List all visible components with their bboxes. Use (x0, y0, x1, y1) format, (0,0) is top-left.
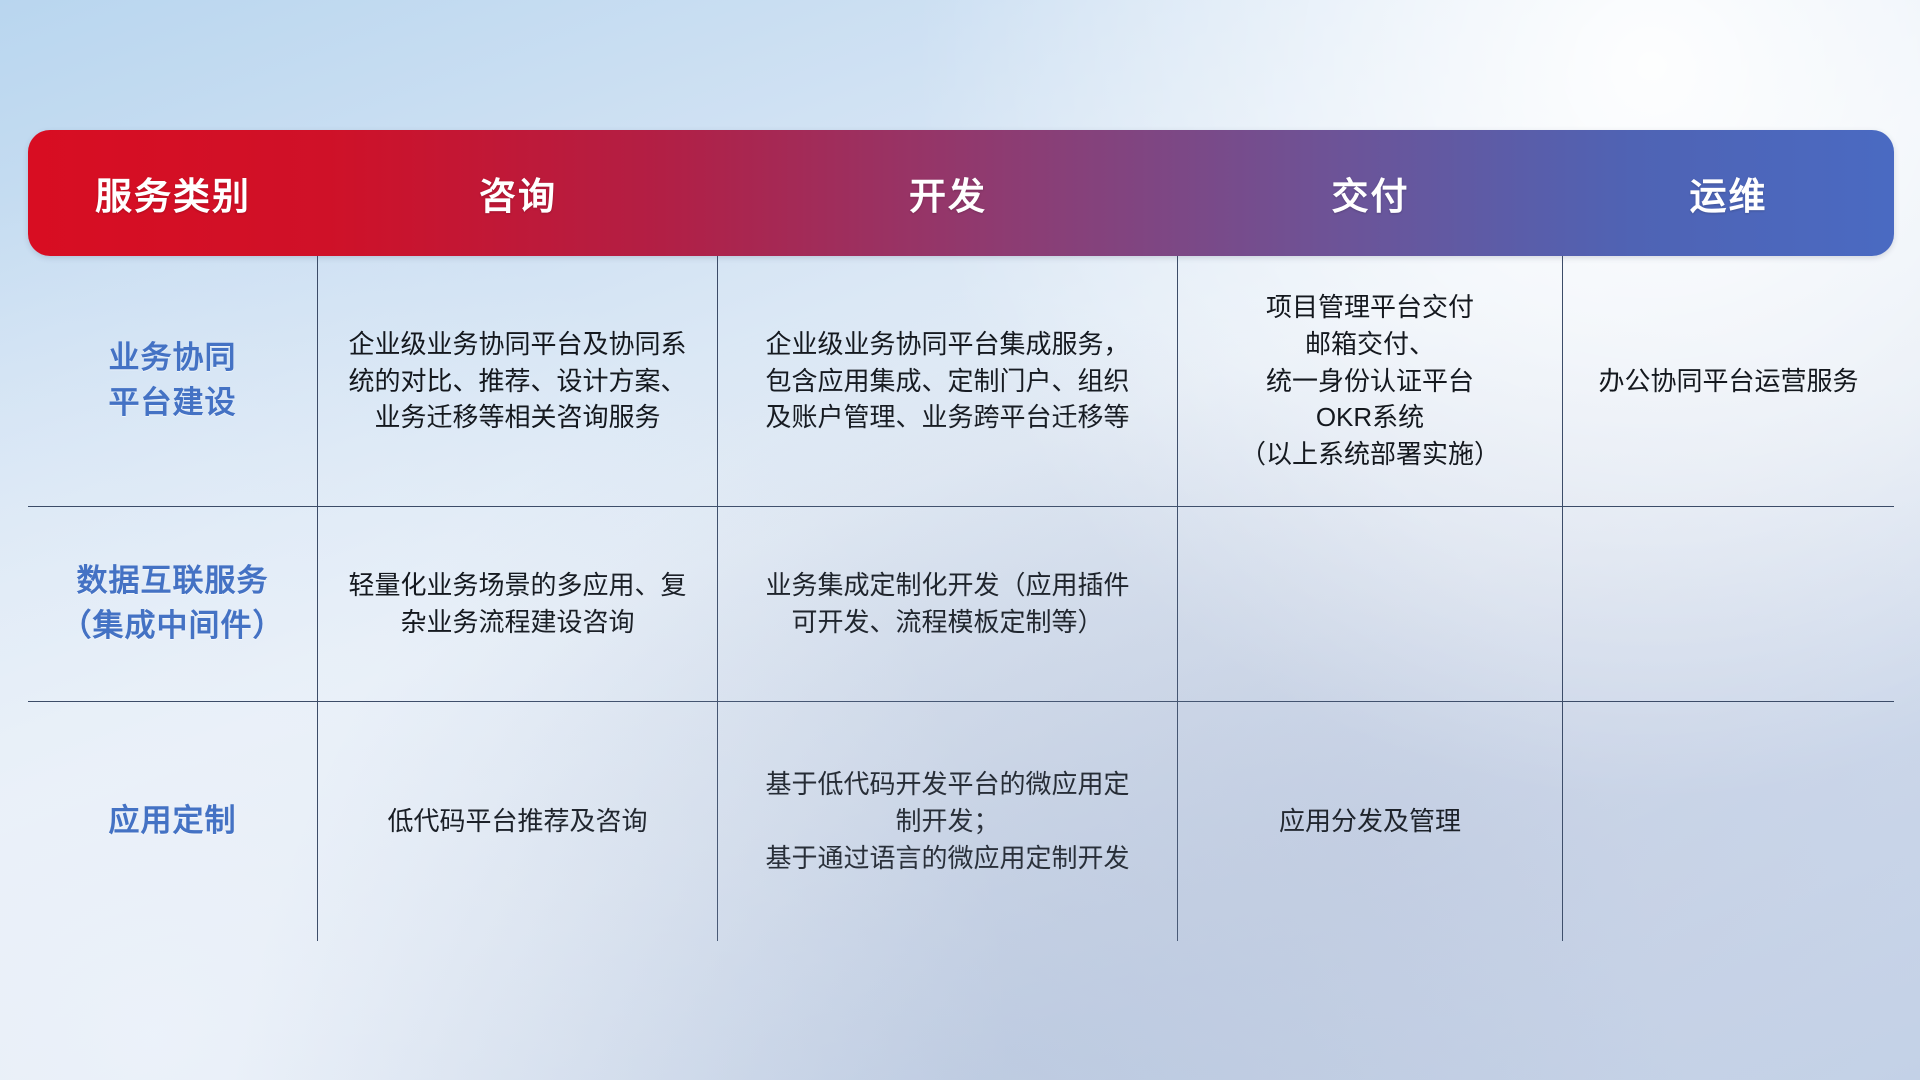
slide-canvas: 服务类别 咨询 开发 交付 运维 业务协同 平台建设 企业级业务协同平台及协同系… (0, 0, 1920, 1080)
table-row: 业务协同 平台建设 企业级业务协同平台及协同系 统的对比、推荐、设计方案、 业务… (28, 256, 1894, 506)
cell-development-row-2: 业务集成定制化开发（应用插件 可开发、流程模板定制等） (718, 506, 1178, 701)
table-header-row: 服务类别 咨询 开发 交付 运维 (28, 130, 1894, 256)
row-label-business-collaboration-platform: 业务协同 平台建设 (28, 256, 318, 506)
column-header-delivery: 交付 (1178, 130, 1563, 256)
row-label-data-interconnect-service: 数据互联服务 （集成中间件） (28, 506, 318, 701)
cell-consulting-row-2: 轻量化业务场景的多应用、复 杂业务流程建设咨询 (318, 506, 718, 701)
cell-delivery-row-3: 应用分发及管理 (1178, 701, 1563, 941)
cell-development-row-3: 基于低代码开发平台的微应用定 制开发； 基于通过语言的微应用定制开发 (718, 701, 1178, 941)
cell-consulting-row-3: 低代码平台推荐及咨询 (318, 701, 718, 941)
service-matrix-table: 服务类别 咨询 开发 交付 运维 业务协同 平台建设 企业级业务协同平台及协同系… (28, 130, 1894, 941)
column-header-consulting: 咨询 (318, 130, 718, 256)
cell-development-row-1: 企业级业务协同平台集成服务， 包含应用集成、定制门户、组织 及账户管理、业务跨平… (718, 256, 1178, 506)
cell-consulting-row-1: 企业级业务协同平台及协同系 统的对比、推荐、设计方案、 业务迁移等相关咨询服务 (318, 256, 718, 506)
cell-operations-row-3 (1563, 701, 1894, 941)
table-row: 数据互联服务 （集成中间件） 轻量化业务场景的多应用、复 杂业务流程建设咨询 业… (28, 506, 1894, 701)
cell-operations-row-1: 办公协同平台运营服务 (1563, 256, 1894, 506)
column-header-operations: 运维 (1563, 130, 1894, 256)
cell-operations-row-2 (1563, 506, 1894, 701)
cell-delivery-row-1: 项目管理平台交付 邮箱交付、 统一身份认证平台 OKR系统 （以上系统部署实施） (1178, 256, 1563, 506)
column-header-development: 开发 (718, 130, 1178, 256)
table-body: 业务协同 平台建设 企业级业务协同平台及协同系 统的对比、推荐、设计方案、 业务… (28, 256, 1894, 941)
row-label-application-customization: 应用定制 (28, 701, 318, 941)
table-row: 应用定制 低代码平台推荐及咨询 基于低代码开发平台的微应用定 制开发； 基于通过… (28, 701, 1894, 941)
cell-delivery-row-2 (1178, 506, 1563, 701)
column-header-service-category: 服务类别 (28, 130, 318, 256)
